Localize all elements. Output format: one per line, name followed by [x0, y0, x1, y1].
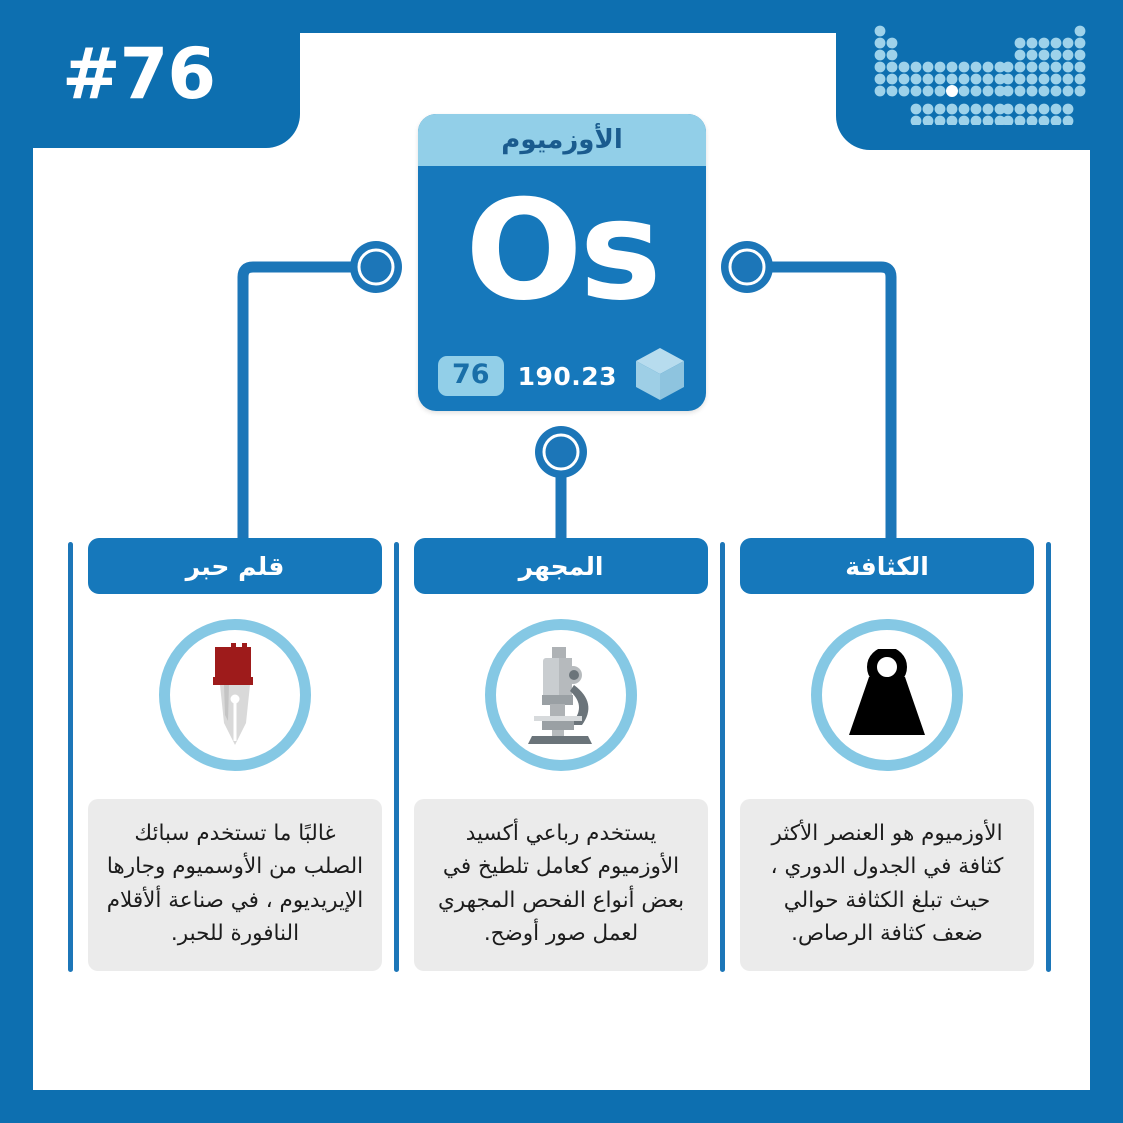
section-pen: قلم حبر: [88, 538, 382, 971]
element-card-footer: 76 190.23: [418, 341, 706, 411]
element-symbol: Os: [418, 166, 706, 341]
microscope-icon: [512, 645, 610, 745]
section-header-microscope[interactable]: المجهر: [414, 538, 708, 594]
element-name: الأوزميوم: [418, 114, 706, 166]
atomic-number: 76: [438, 356, 504, 395]
element-number-text: #76: [0, 39, 215, 109]
section-density: الكثافة الأوزميوم هو العنصر الأكثر كثافة…: [740, 538, 1034, 971]
periodic-table-badge: [836, 0, 1123, 150]
section-text-pen: غالبًا ما تستخدم سبائك الصلب من الأوسميو…: [88, 799, 382, 971]
section-header-density[interactable]: الكثافة: [740, 538, 1034, 594]
icon-circle-pen: [159, 619, 311, 771]
fountain-pen-nib-icon: [198, 641, 272, 749]
solid-cube-icon: [634, 346, 686, 407]
atomic-mass: 190.23: [518, 362, 617, 391]
section-text-density: الأوزميوم هو العنصر الأكثر كثافة في الجد…: [740, 799, 1034, 971]
section-title-density: الكثافة: [845, 552, 929, 581]
element-number-badge: #76: [0, 0, 300, 148]
poster-background: #76: [0, 0, 1123, 1123]
icon-wrap-density: [740, 619, 1034, 771]
icon-circle-microscope: [485, 619, 637, 771]
icon-circle-density: [811, 619, 963, 771]
section-microscope: المجهر: [414, 538, 708, 971]
highlighted-element-dot: [946, 85, 958, 97]
weight-icon: [839, 649, 935, 741]
element-card[interactable]: الأوزميوم Os 76 190.23: [418, 114, 706, 411]
section-header-pen[interactable]: قلم حبر: [88, 538, 382, 594]
periodic-table-dots-icon: [874, 25, 1086, 125]
icon-wrap-pen: [88, 619, 382, 771]
icon-wrap-microscope: [414, 619, 708, 771]
section-title-microscope: المجهر: [519, 552, 604, 581]
section-text-microscope: يستخدم رباعي أكسيد الأوزميوم كعامل تلطيخ…: [414, 799, 708, 971]
section-title-pen: قلم حبر: [186, 552, 285, 581]
